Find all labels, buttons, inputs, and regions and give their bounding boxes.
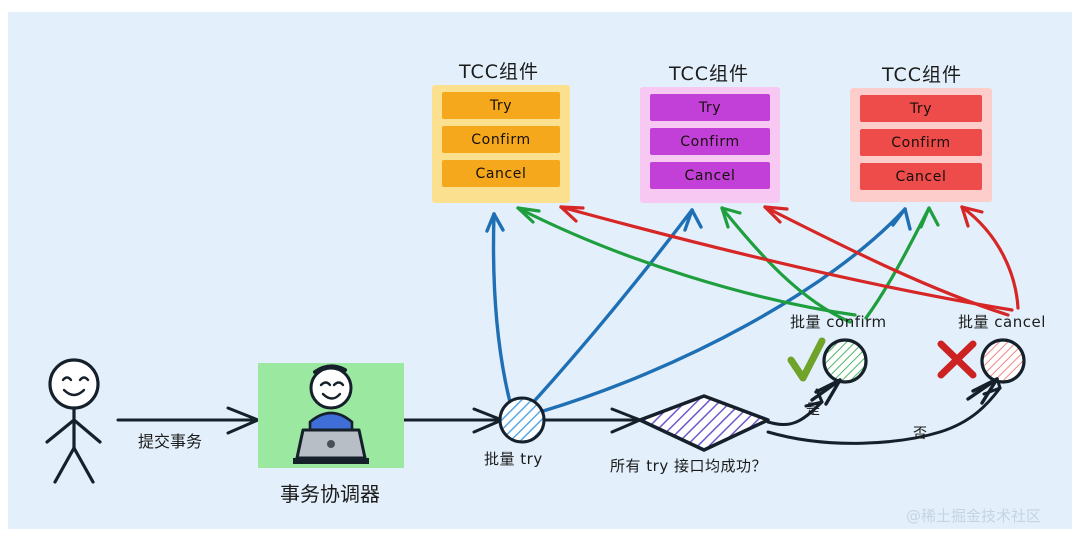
tcc-method-try-2[interactable]: Try <box>650 94 770 121</box>
tcc-method-cancel-2[interactable]: Cancel <box>650 162 770 189</box>
tcc-title-1: TCC组件 <box>459 57 539 84</box>
tcc-title-2: TCC组件 <box>669 59 749 86</box>
diagram-canvas: TCC组件 Try Confirm Cancel TCC组件 Try Confi… <box>0 0 1080 537</box>
tcc-card-1: Try Confirm Cancel <box>432 85 570 203</box>
tcc-method-try-3[interactable]: Try <box>860 95 982 122</box>
decision-label: 所有 try 接口均成功？ <box>610 455 767 476</box>
tcc-method-confirm-2[interactable]: Confirm <box>650 128 770 155</box>
yes-label: 是 <box>806 399 820 419</box>
tcc-method-cancel-1[interactable]: Cancel <box>442 160 560 187</box>
submit-transaction-label: 提交事务 <box>138 428 202 452</box>
tcc-method-confirm-1[interactable]: Confirm <box>442 126 560 153</box>
coordinator-box <box>258 363 404 468</box>
tcc-method-try-1[interactable]: Try <box>442 92 560 119</box>
watermark: @稀土掘金技术社区 <box>906 505 1041 526</box>
tcc-title-3: TCC组件 <box>882 60 962 87</box>
coordinator-label: 事务协调器 <box>280 478 380 507</box>
batch-confirm-label: 批量 confirm <box>790 311 887 332</box>
no-label: 否 <box>913 423 927 443</box>
tcc-method-confirm-3[interactable]: Confirm <box>860 129 982 156</box>
tcc-card-3: Try Confirm Cancel <box>850 88 992 202</box>
tcc-card-2: Try Confirm Cancel <box>640 87 780 203</box>
batch-cancel-label: 批量 cancel <box>958 311 1046 332</box>
tcc-method-cancel-3[interactable]: Cancel <box>860 163 982 190</box>
batch-try-label: 批量 try <box>484 448 543 469</box>
